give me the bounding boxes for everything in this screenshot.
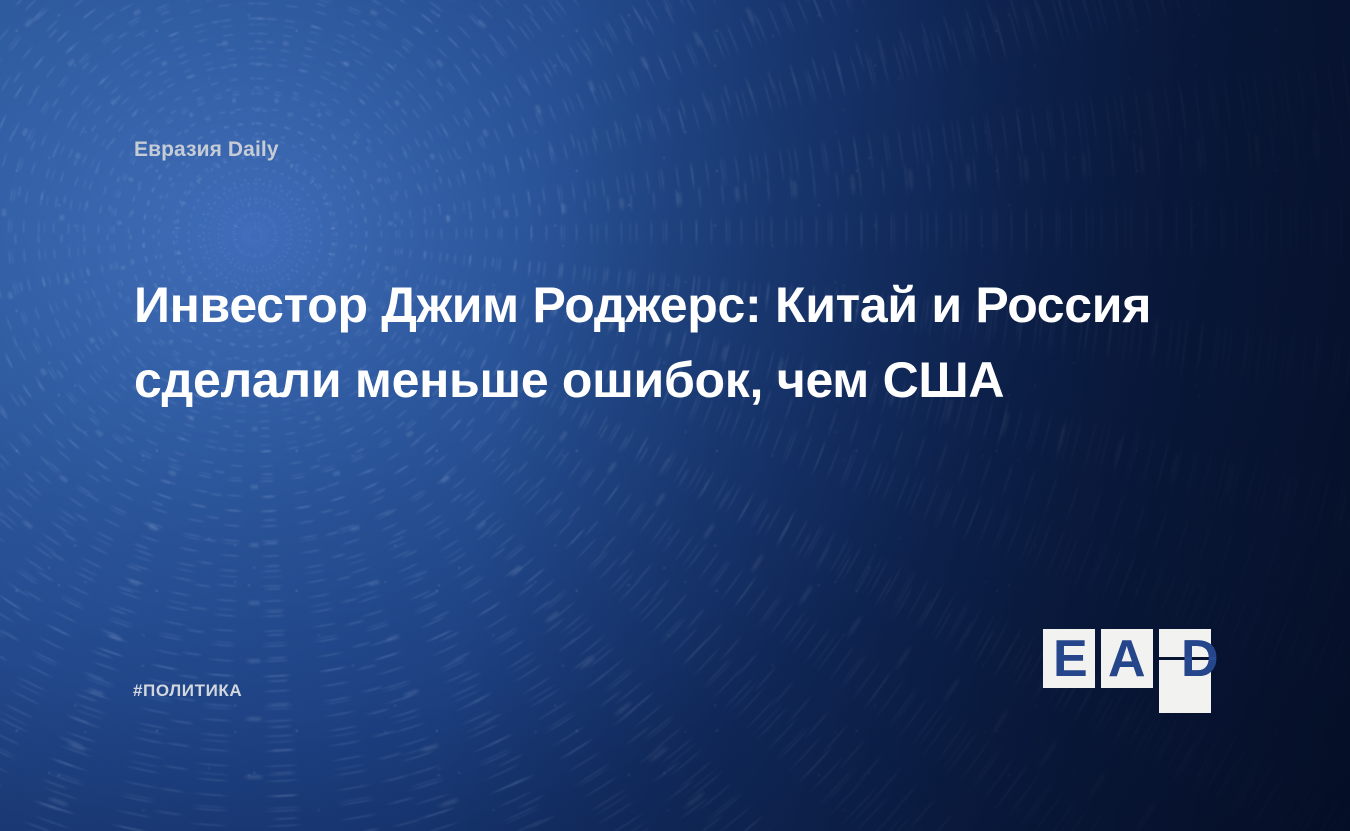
logo-tile-d-top [1159, 629, 1211, 657]
logo-tile-a: A [1101, 629, 1153, 688]
article-headline: Инвестор Джим Роджерс: Китай и Россия сд… [134, 268, 1194, 418]
publication-name: Евразия Daily [134, 138, 279, 162]
card-content: Евразия Daily Инвестор Джим Роджерс: Кит… [0, 0, 1350, 831]
logo-letter-e: E [1053, 633, 1088, 685]
logo-letter-a: A [1108, 633, 1146, 685]
logo-tile-d-bottom [1159, 660, 1211, 713]
eadaily-logo[interactable]: E A D D D [1043, 629, 1221, 713]
article-share-card: Евразия Daily Инвестор Джим Роджерс: Кит… [0, 0, 1350, 831]
category-tag-politics[interactable]: #ПОЛИТИКА [133, 681, 242, 701]
logo-tile-e: E [1043, 629, 1095, 688]
